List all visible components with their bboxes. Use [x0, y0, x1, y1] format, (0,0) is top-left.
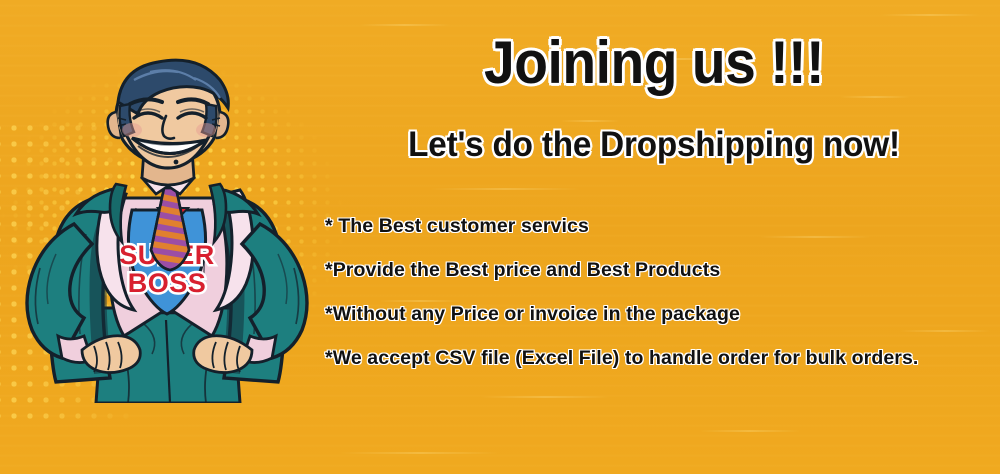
list-item: *We accept CSV file (Excel File) to hand…	[325, 346, 997, 371]
shirt-text-boss: BOSS	[128, 268, 207, 298]
promo-banner: SUPER BOSS	[0, 0, 1000, 474]
page-title: Joining us !!!	[345, 31, 963, 95]
subheadline: Let's do the Dropshipping now!	[335, 124, 973, 166]
list-item: *Without any Price or invoice in the pac…	[325, 302, 997, 327]
banner-text-column: Joining us !!! Let's do the Dropshipping…	[318, 0, 1000, 474]
list-item: * The Best customer servics	[325, 214, 997, 239]
list-item: *Provide the Best price and Best Product…	[325, 258, 997, 283]
feature-list: * The Best customer servics *Provide the…	[325, 214, 997, 371]
super-boss-character-illustration: SUPER BOSS	[8, 58, 328, 403]
